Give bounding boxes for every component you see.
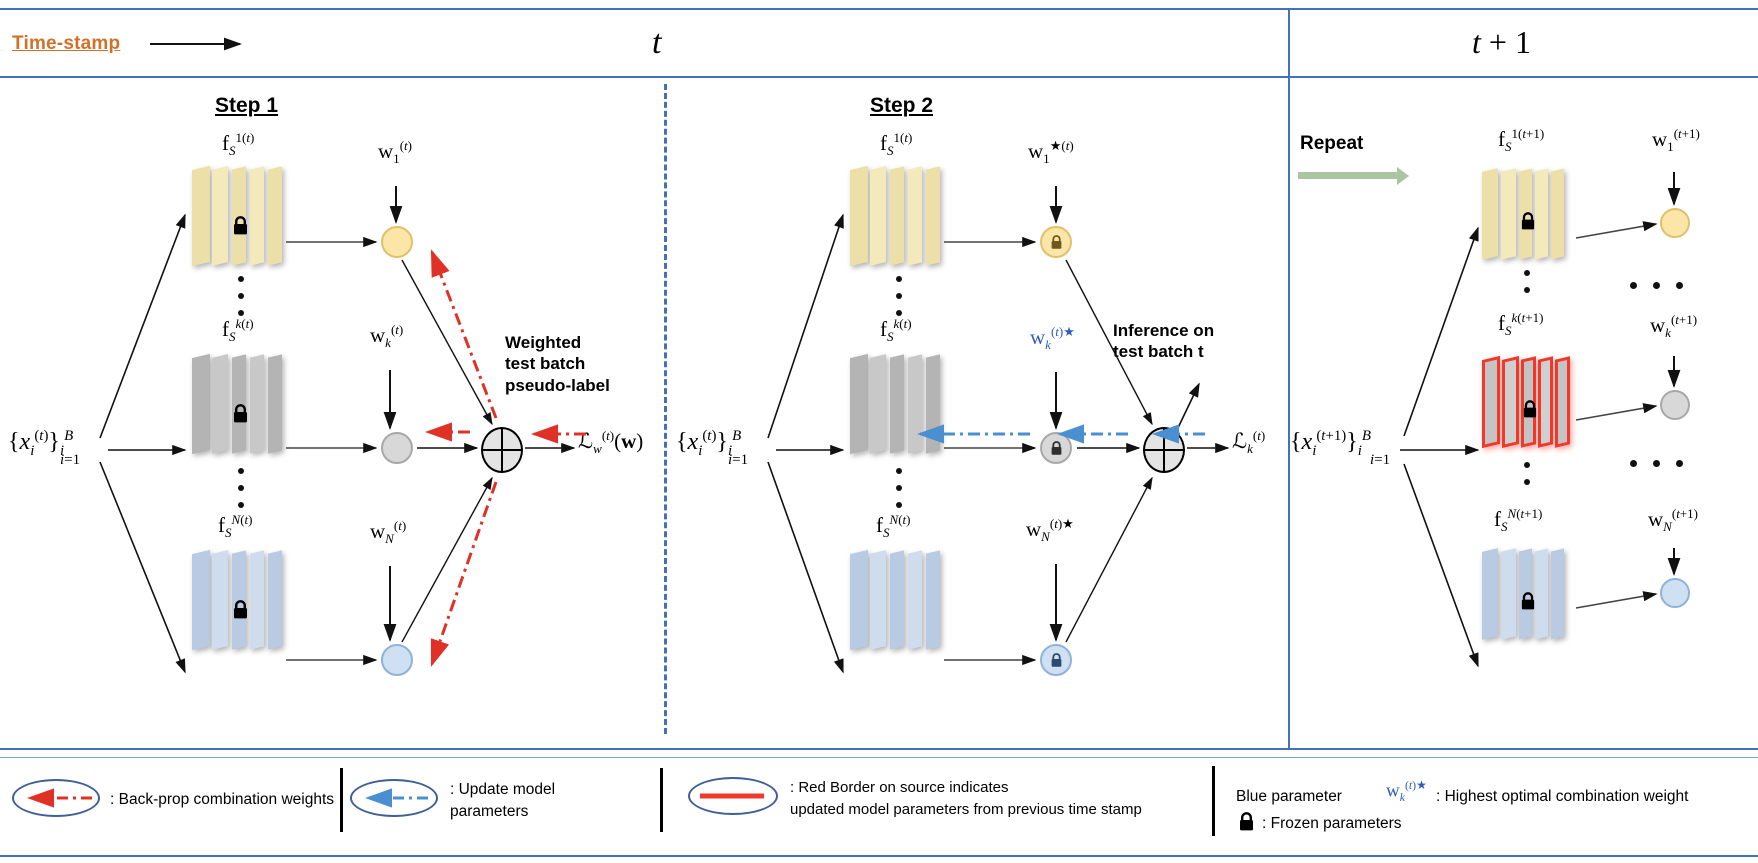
model-slab xyxy=(1482,168,1498,260)
step1-weight-node-1 xyxy=(381,226,413,258)
next-weight-node-1 xyxy=(1660,208,1690,238)
step2-annotation: Inference ontest batch t xyxy=(1113,320,1263,363)
next-model-1-label: fS1(t+1) xyxy=(1498,126,1544,155)
legend-divider-3 xyxy=(1212,766,1215,836)
model-slab xyxy=(926,354,940,453)
model-slab xyxy=(850,354,868,454)
step2-weight-node-1 xyxy=(1040,226,1072,258)
legend-blueparam-post: : Highest optimal combination weight xyxy=(1436,786,1688,808)
edge-input-to-model1 xyxy=(100,215,185,438)
step1-input-sub: i=1 xyxy=(60,452,80,469)
legend-divider-1 xyxy=(340,768,343,832)
edge3-modelk-to-wk xyxy=(1576,406,1656,420)
step2-weight-k-label: wk(t)★ xyxy=(1030,324,1075,353)
legend-blueparam-symbol: wk(t)★ xyxy=(1386,778,1427,805)
next-weight-node-k xyxy=(1660,390,1690,420)
step1-model-N-label: fSN(t) xyxy=(218,512,253,541)
step1-vertical-dots-lower xyxy=(238,468,244,508)
next-model-N-label: fSN(t+1) xyxy=(1494,506,1542,535)
model-slab xyxy=(268,550,282,649)
edge3-input-to-modelN xyxy=(1404,464,1478,666)
next-input-label: {xi(t+1)}iB xyxy=(1290,428,1371,460)
lock-icon xyxy=(232,404,249,424)
repeat-label: Repeat xyxy=(1300,132,1363,156)
model-slab xyxy=(1535,548,1548,639)
step2-vertical-dots-upper xyxy=(896,276,902,316)
lock-icon xyxy=(1520,212,1536,231)
step2-loss-label: ℒk(t) xyxy=(1232,428,1265,457)
next-vertical-dots-upper xyxy=(1524,270,1530,293)
model-slab xyxy=(908,166,922,265)
model-slab xyxy=(1501,168,1516,259)
edge3-input-to-model1 xyxy=(1404,228,1478,436)
lock-icon xyxy=(1050,653,1063,668)
edge2-input-to-model1 xyxy=(768,215,843,438)
model-slab xyxy=(268,354,282,453)
edge2-wN-to-combiner xyxy=(1066,478,1152,642)
model-slab xyxy=(192,354,210,454)
step1-loss-label: ℒw(t)(w) xyxy=(578,428,643,457)
legend-divider-2 xyxy=(660,768,663,832)
model-slab xyxy=(250,354,264,453)
lock-icon xyxy=(232,600,249,620)
model-slab-red-border xyxy=(1555,356,1570,447)
next-model-k-label: fSk(t+1) xyxy=(1498,310,1543,339)
step2-model-N-stack xyxy=(850,552,950,652)
step1-annotation: Weightedtest batchpseudo-label xyxy=(505,332,645,396)
step2-vertical-dots-lower xyxy=(896,468,902,508)
legend-frozen-text: : Frozen parameters xyxy=(1262,813,1402,835)
lock-icon xyxy=(1522,400,1538,419)
legend-redborder-text: : Red Border on source indicates updated… xyxy=(790,777,1142,821)
model-slab xyxy=(192,166,210,266)
next-weight-node-N xyxy=(1660,578,1690,608)
step2-model-N-label: fSN(t) xyxy=(876,512,911,541)
model-slab xyxy=(870,550,886,650)
lock-icon xyxy=(1050,441,1063,456)
model-slab xyxy=(890,166,904,265)
frame-right-divider-top xyxy=(1288,8,1290,78)
header-time-t-plus-1: t + 1 xyxy=(1472,24,1531,61)
step1-weight-node-k xyxy=(381,432,413,464)
repeat-arrow-icon xyxy=(1298,172,1398,179)
model-slab xyxy=(268,166,282,265)
step1-vertical-dots-upper xyxy=(238,276,244,316)
model-slab xyxy=(850,166,868,266)
next-weight-1-label: w1(t+1) xyxy=(1652,126,1700,155)
edge3-modelN-to-wN xyxy=(1576,594,1656,608)
model-slab xyxy=(850,550,868,650)
model-slab xyxy=(250,550,264,649)
frame-top-line xyxy=(0,8,1758,10)
legend-top-line xyxy=(0,757,1758,758)
model-slab xyxy=(212,550,228,650)
lock-icon xyxy=(1238,812,1255,832)
step2-model-1-label: fS1(t) xyxy=(880,130,912,159)
step1-model-N-stack xyxy=(192,552,292,652)
step2-title: Step 2 xyxy=(870,94,933,118)
model-slab xyxy=(212,354,228,454)
model-slab xyxy=(926,550,940,649)
model-slab xyxy=(926,166,940,265)
step2-input-sub: i=1 xyxy=(728,452,748,469)
model-slab xyxy=(1501,548,1516,639)
edge2-input-to-modelN xyxy=(768,462,843,672)
model-slab xyxy=(250,166,264,265)
edge2-inference-arrow xyxy=(1176,384,1199,432)
model-slab xyxy=(890,354,904,453)
step1-weight-N-label: wN(t) xyxy=(370,518,406,547)
step2-combiner xyxy=(1143,427,1185,473)
legend-update-text: : Update model parameters xyxy=(450,779,555,824)
step2-weight-N-label: wN(t)★ xyxy=(1026,516,1074,545)
next-model-k-stack xyxy=(1482,358,1582,450)
step2-weight-node-k xyxy=(1040,432,1072,464)
frame-right-divider-body xyxy=(1288,78,1290,748)
edge-wN-to-combiner xyxy=(402,478,492,642)
step2-weight-node-N xyxy=(1040,644,1072,676)
edge-w1-to-combiner xyxy=(402,260,492,424)
lock-icon xyxy=(232,216,249,236)
step1-model-1-stack xyxy=(192,168,292,268)
lock-icon xyxy=(1050,235,1063,250)
next-weight-k-label: wk(t+1) xyxy=(1650,312,1697,341)
model-slab xyxy=(870,354,886,454)
header-time-t: t xyxy=(652,24,661,62)
legend-redborder-ellipse xyxy=(688,777,778,815)
model-slab xyxy=(908,354,922,453)
edge-input-to-modelN xyxy=(100,462,185,672)
step1-title: Step 1 xyxy=(215,94,278,118)
diagram-canvas: Time-stamp t t + 1 Step 1 {xi(t)}iB i=1 … xyxy=(0,0,1758,863)
model-slab xyxy=(908,550,922,649)
model-slab-red-border xyxy=(1538,356,1553,447)
model-slab-red-border xyxy=(1482,356,1500,448)
model-slab xyxy=(212,166,228,266)
next-model-N-stack xyxy=(1482,550,1582,642)
next-input-sub: i=1 xyxy=(1370,452,1390,469)
backprop-arrow-wN xyxy=(432,482,496,664)
next-model-1-stack xyxy=(1482,170,1582,262)
step-divider-dashed xyxy=(664,84,667,734)
next-vertical-dots-lower xyxy=(1524,462,1530,485)
frame-body-bottom-line xyxy=(0,748,1758,750)
step1-model-k-label: fSk(t) xyxy=(222,316,254,345)
model-slab xyxy=(192,550,210,650)
next-weight-N-label: wN(t+1) xyxy=(1648,506,1698,535)
backprop-arrow-w1 xyxy=(432,252,496,418)
model-slab-red-border xyxy=(1502,356,1519,448)
next-horizontal-dots-lower xyxy=(1630,460,1683,467)
legend-blueparam-pre: Blue parameter xyxy=(1236,786,1342,808)
legend-update-ellipse xyxy=(350,779,438,817)
frame-legend-bottom-line xyxy=(0,855,1758,857)
legend-backprop-ellipse xyxy=(12,779,100,817)
step1-combiner xyxy=(481,427,523,473)
model-slab xyxy=(1535,168,1548,259)
step1-weight-k-label: wk(t) xyxy=(370,322,403,351)
legend-backprop-text: : Back-prop combination weights xyxy=(110,789,334,811)
next-horizontal-dots-upper xyxy=(1630,282,1683,289)
model-slab xyxy=(1551,168,1564,259)
step1-weight-1-label: w1(t) xyxy=(378,138,412,167)
model-slab xyxy=(1551,548,1564,639)
timestamp-label: Time-stamp xyxy=(12,33,120,55)
frame-header-bottom-line xyxy=(0,76,1758,78)
step1-weight-node-N xyxy=(381,644,413,676)
step1-model-k-stack xyxy=(192,356,292,456)
model-slab xyxy=(870,166,886,266)
model-slab xyxy=(1482,548,1498,640)
edge3-model1-to-w1 xyxy=(1576,224,1656,238)
step2-model-k-stack xyxy=(850,356,950,456)
step1-model-1-label: fS1(t) xyxy=(222,130,254,159)
lock-icon xyxy=(1520,592,1536,611)
step2-model-1-stack xyxy=(850,168,950,268)
model-slab xyxy=(890,550,904,649)
step2-model-k-label: fSk(t) xyxy=(880,316,912,345)
step2-weight-1-label: w1★(t) xyxy=(1028,138,1074,167)
